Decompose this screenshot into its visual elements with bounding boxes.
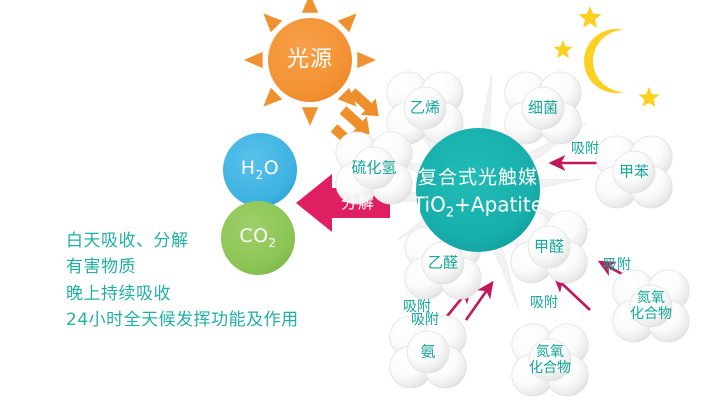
molecule-label-line: 化合物 (529, 360, 571, 376)
blurb-line-4: 24小时全天候发挥功能及作用 (66, 307, 299, 333)
molecule-label-line: 硫化氢 (351, 161, 396, 176)
adsorb-formald-label: 吸附 (530, 296, 558, 310)
molecule-label-line: 氮氧 (630, 290, 672, 306)
molecule-label-h2s: 硫化氢 (351, 161, 396, 176)
molecule-label-nox_right: 氮氧化合物 (630, 290, 672, 322)
adsorb-toluene-label: 吸附 (571, 142, 599, 156)
molecule-label-line: 化合物 (630, 306, 672, 322)
crescent-moon-icon (584, 29, 624, 93)
molecule-label-ammonia: 氨 (420, 345, 435, 360)
molecule-label-line: 甲苯 (619, 165, 649, 180)
h2o-post: O (264, 157, 279, 179)
molecule-label-ethylene: 乙烯 (410, 101, 440, 116)
molecule-label-acetaldehyde: 乙醛 (428, 256, 458, 271)
h2o-sub: 2 (256, 168, 264, 182)
core-circle (416, 128, 540, 252)
molecule-label-toluene: 甲苯 (619, 165, 649, 180)
molecule-label-line: 细菌 (528, 101, 558, 116)
h2o-pre: H (241, 157, 256, 179)
molecule-label-line: 氨 (420, 345, 435, 360)
h2o-label: H2O (241, 159, 279, 181)
decompose-label: 分解 (341, 195, 375, 211)
core-tio2-sub: 2 (446, 206, 454, 221)
sun-ray (263, 88, 282, 107)
core-tio2-post: +Apatite (454, 193, 543, 217)
sun-ray (244, 52, 263, 68)
core-title-line1: 复合式光触媒 (418, 169, 538, 188)
core-title-line2: TiO2+Apatite (413, 195, 543, 220)
sun-label: 光源 (287, 49, 333, 71)
molecule-label-line: 甲醛 (534, 240, 564, 255)
sun-ray (302, 0, 318, 13)
molecule-label-line: 乙醛 (428, 256, 458, 271)
molecule-label-line: 氮氧 (529, 344, 571, 360)
star-icon (639, 87, 660, 107)
sun-ray (338, 13, 357, 32)
sun-ray (263, 13, 282, 32)
sun-ray (357, 52, 376, 68)
core-tio2-pre: TiO (413, 193, 446, 217)
molecule-label-line: 乙烯 (410, 101, 440, 116)
adsorb-nox-right-label: 吸附 (603, 258, 631, 272)
star-icon (579, 6, 602, 28)
molecule-label-formaldehyde: 甲醛 (534, 240, 564, 255)
molecule-label-nox_bottom: 氮氧化合物 (529, 344, 571, 376)
molecule-label-bacteria: 细菌 (528, 101, 558, 116)
blurb-line-3: 晚上持续吸收 (66, 281, 299, 307)
blurb-line-2: 有害物质 (66, 254, 299, 280)
description-blurb: 白天吸收、分解 有害物质 晚上持续吸收 24小时全天候发挥功能及作用 (66, 228, 299, 333)
adsorb-ammonia-label: 吸附 (411, 313, 439, 327)
blurb-line-1: 白天吸收、分解 (66, 228, 299, 254)
star-icon (553, 40, 572, 58)
diagram-canvas: 光源 复合式光触媒 TiO2+Apatite H2O CO2 分解 乙烯细菌硫化… (0, 0, 720, 420)
sun-ray (302, 107, 318, 126)
